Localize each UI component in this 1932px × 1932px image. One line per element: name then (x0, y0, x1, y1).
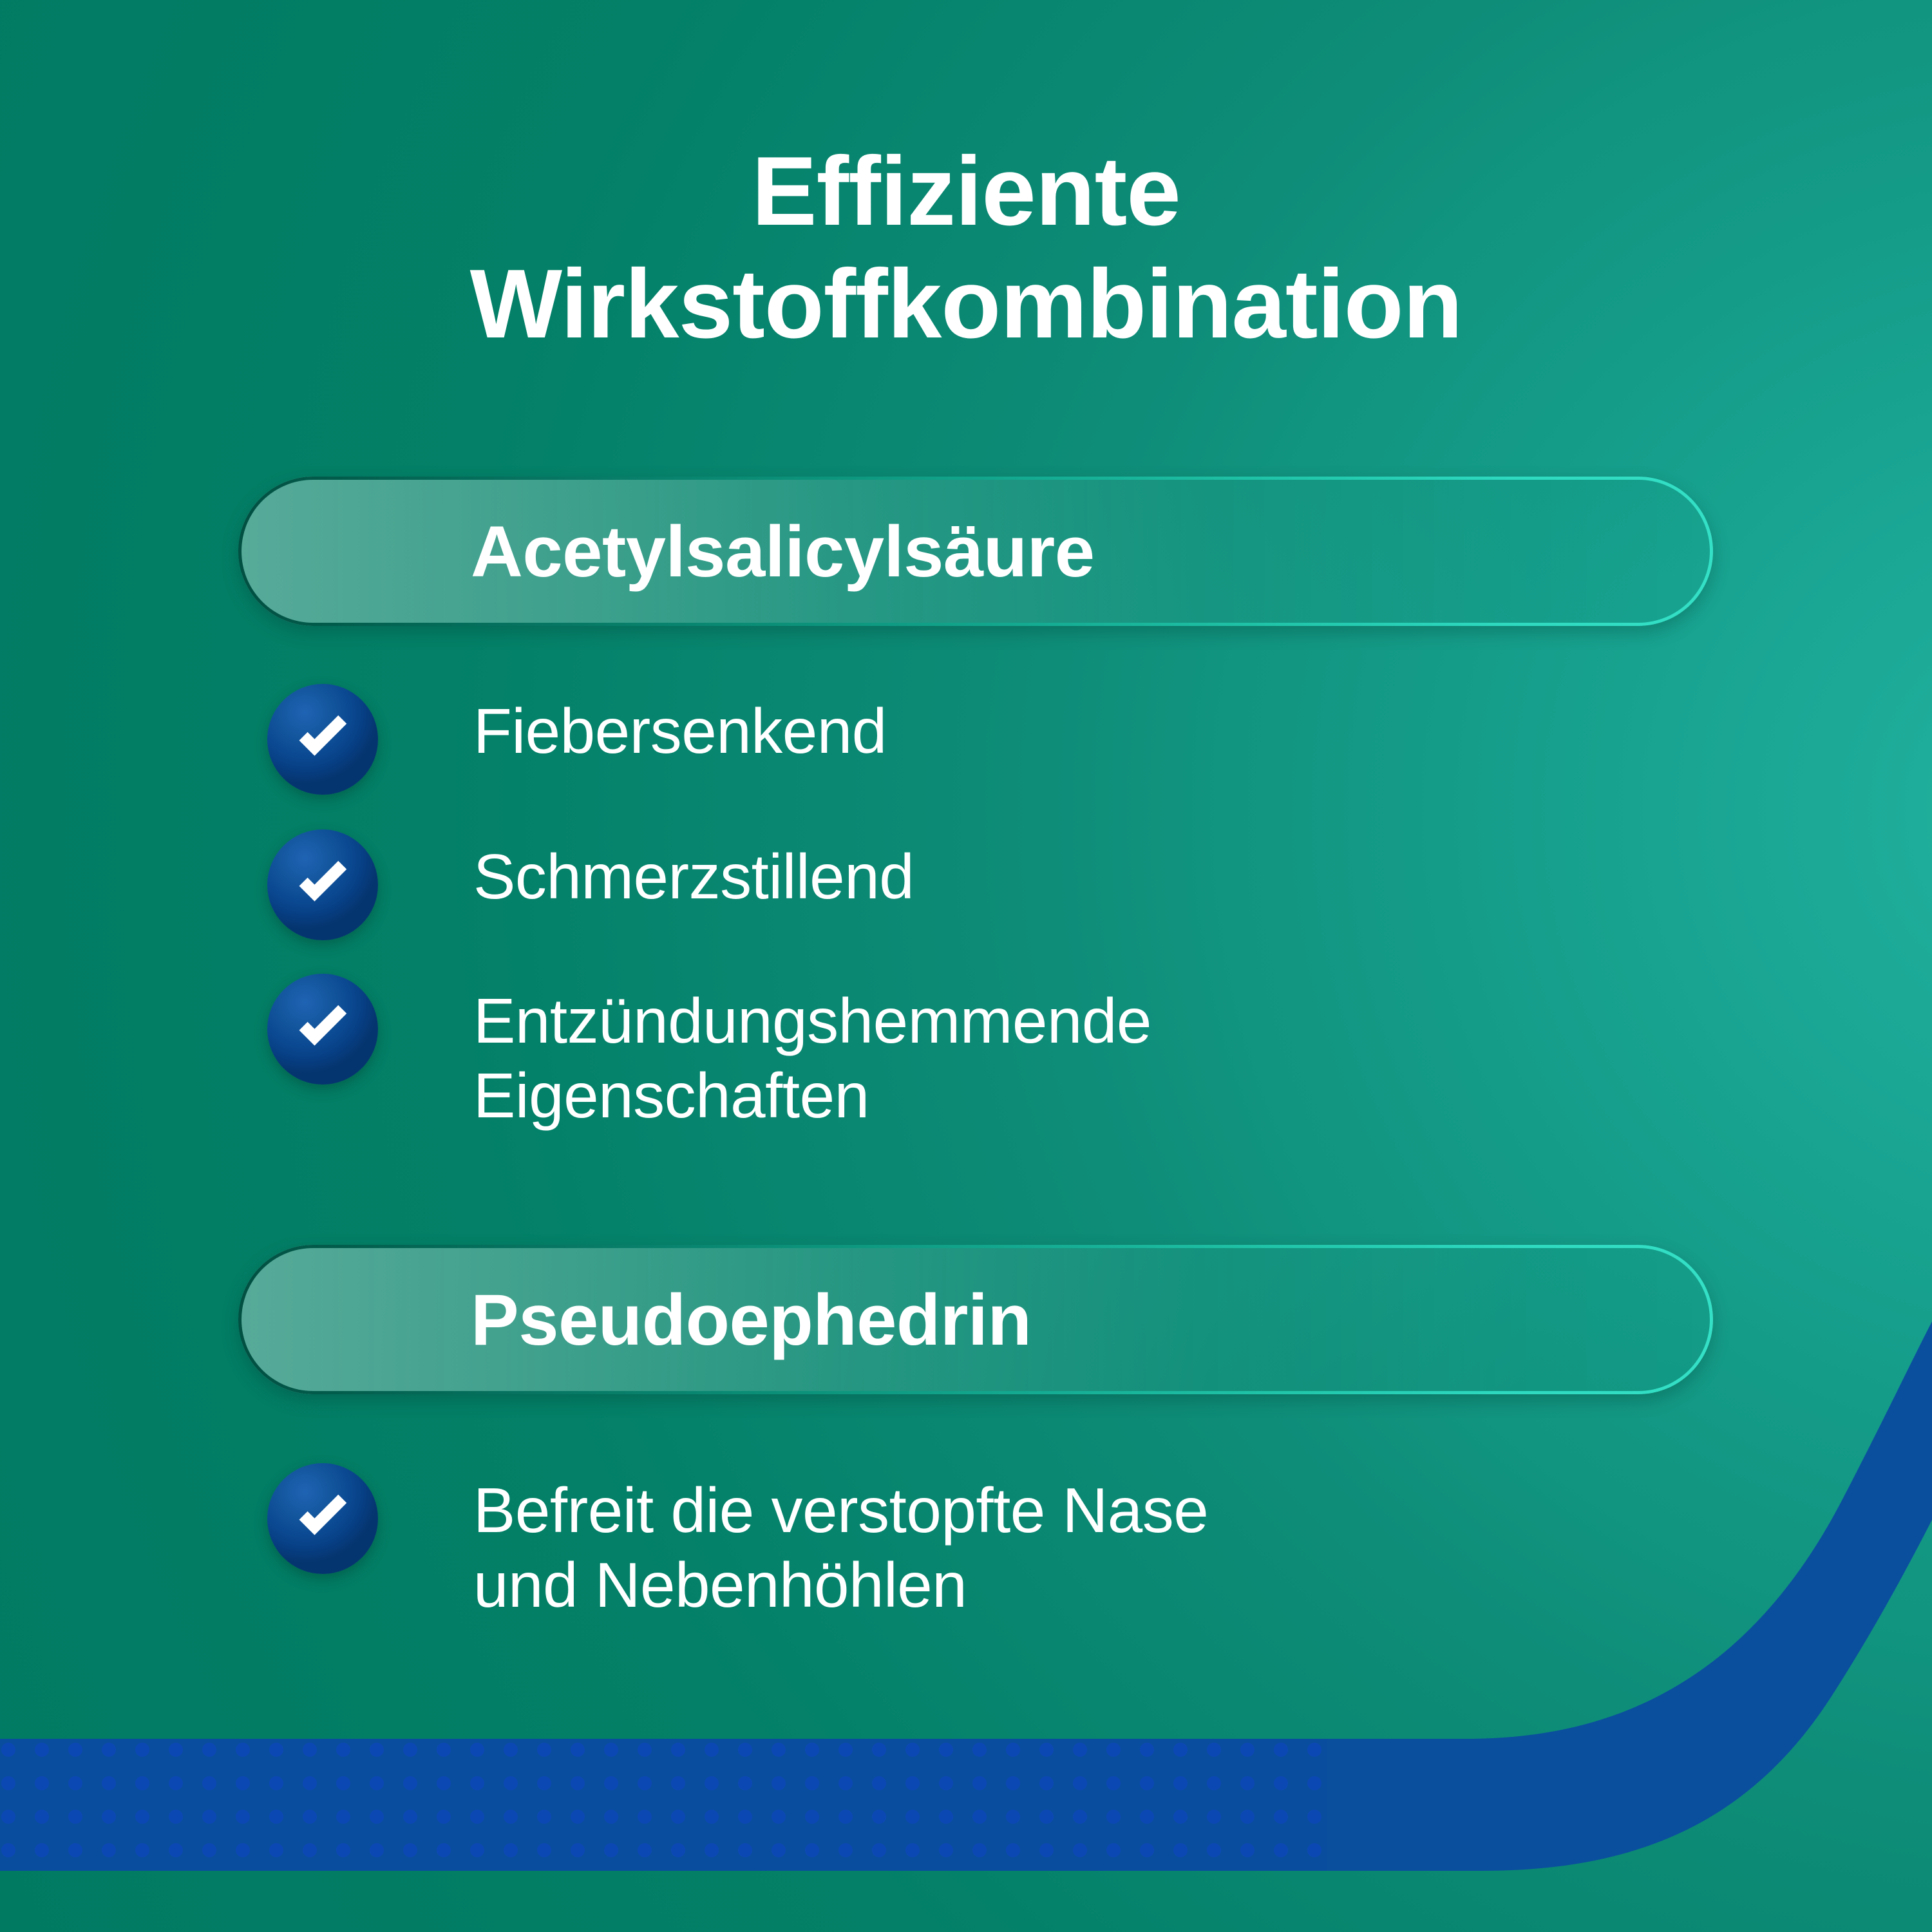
ingredient-pill-label: Pseudoephedrin (241, 1278, 1031, 1361)
page-title-line-1: Effiziente (90, 135, 1842, 248)
check-icon (267, 684, 378, 795)
benefit-label: Fiebersenkend (473, 684, 887, 769)
check-icon (267, 1463, 378, 1574)
benefit-label: Entzündungshemmende Eigenschaften (473, 974, 1151, 1133)
benefit-row: Befreit die verstopfte Nase und Nebenhöh… (267, 1463, 1208, 1622)
benefit-label: Befreit die verstopfte Nase und Nebenhöh… (473, 1463, 1208, 1622)
check-icon (267, 829, 378, 940)
ingredient-pill-label: Acetylsalicylsäure (241, 510, 1095, 593)
poster-canvas: Effiziente Wirkstoffkombination Acetylsa… (0, 0, 1932, 1932)
page-title-line-2: Wirkstoffkombination (90, 248, 1842, 361)
wave-band-translucent-left (0, 1674, 1327, 1893)
page-title: Effiziente Wirkstoffkombination (0, 135, 1932, 361)
check-icon (267, 974, 378, 1084)
benefit-row: Entzündungshemmende Eigenschaften (267, 974, 1151, 1133)
benefit-row: Fiebersenkend (267, 684, 887, 795)
benefit-label: Schmerzstillend (473, 829, 914, 914)
benefit-row: Schmerzstillend (267, 829, 914, 940)
ingredient-pill-acetylsalicylsaeure: Acetylsalicylsäure (238, 477, 1713, 626)
wave-band-dot-pattern (0, 1674, 1327, 1893)
ingredient-pill-pseudoephedrin: Pseudoephedrin (238, 1245, 1713, 1394)
